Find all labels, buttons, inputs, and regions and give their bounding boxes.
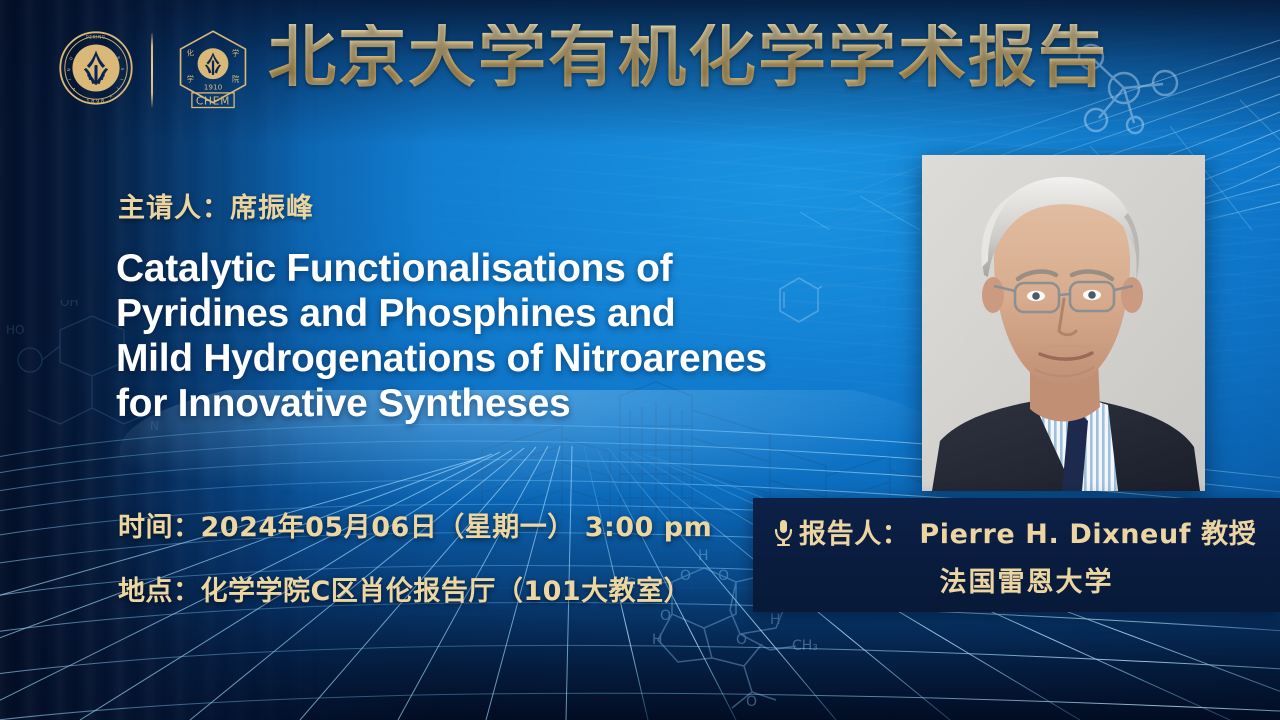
event-time: 时间：2024年05月06日（星期一） 3:00 pm bbox=[118, 505, 712, 544]
svg-text:T: T bbox=[115, 85, 122, 91]
svg-text:院: 院 bbox=[232, 75, 240, 84]
svg-text:H: H bbox=[770, 612, 781, 628]
svg-text:O: O bbox=[746, 694, 757, 710]
svg-text:学: 学 bbox=[187, 75, 194, 84]
svg-text:1910: 1910 bbox=[204, 83, 223, 92]
portrait-image bbox=[922, 155, 1205, 491]
speaker-banner: 报告人： Pierre H. Dixneuf 教授 法国雷恩大学 bbox=[753, 498, 1280, 612]
event-location: 地点：化学学院C区肖伦报告厅（101大教室） bbox=[118, 569, 691, 608]
svg-text:H: H bbox=[652, 632, 663, 648]
svg-text:OH: OH bbox=[60, 300, 78, 309]
talk-title-line: Catalytic Functionalisations of bbox=[116, 246, 916, 291]
svg-text:1898: 1898 bbox=[86, 99, 106, 105]
college-of-chemistry-logo: 化 学 学 院 1910 CHEM bbox=[172, 28, 254, 114]
peking-university-logo: PEKING U N I V R S I T Y 1898 bbox=[58, 30, 134, 106]
talk-title-line: for Innovative Syntheses bbox=[116, 381, 916, 426]
svg-text:I: I bbox=[119, 78, 124, 81]
microphone-icon bbox=[771, 518, 795, 546]
svg-text:S: S bbox=[120, 68, 125, 72]
svg-text:CHEM: CHEM bbox=[196, 95, 230, 107]
svg-text:PEKING: PEKING bbox=[86, 34, 106, 39]
page-title: 北京大学有机化学学术报告 bbox=[268, 24, 1108, 92]
poster-canvas: H O O O H O O H CH₃ C HO OH N bbox=[0, 0, 1280, 720]
svg-text:化: 化 bbox=[187, 49, 195, 58]
svg-text:N: N bbox=[66, 67, 71, 71]
speaker-name: 报告人： Pierre H. Dixneuf 教授 bbox=[799, 512, 1256, 551]
svg-text:H: H bbox=[698, 548, 709, 564]
svg-text:HO: HO bbox=[6, 323, 24, 337]
speaker-affiliation: 法国雷恩大学 bbox=[753, 560, 1280, 599]
speaker-portrait bbox=[922, 155, 1205, 491]
logo-divider bbox=[151, 33, 153, 107]
host-line: 主请人：席振峰 bbox=[118, 186, 314, 225]
svg-text:U: U bbox=[68, 55, 74, 61]
talk-title-line: Mild Hydrogenations of Nitroarenes bbox=[116, 336, 916, 381]
svg-text:O: O bbox=[736, 632, 747, 648]
poster-header: PEKING U N I V R S I T Y 1898 bbox=[0, 0, 1280, 140]
svg-text:O: O bbox=[718, 568, 729, 584]
svg-text:O: O bbox=[660, 608, 671, 624]
talk-title-line: Pyridines and Phosphines and bbox=[116, 291, 916, 336]
speaker-name-row: 报告人： Pierre H. Dixneuf 教授 bbox=[771, 512, 1256, 551]
talk-title: Catalytic Functionalisations of Pyridine… bbox=[116, 246, 916, 426]
svg-text:CH₃: CH₃ bbox=[792, 638, 818, 654]
svg-text:I: I bbox=[67, 77, 72, 80]
svg-text:学: 学 bbox=[232, 49, 239, 58]
